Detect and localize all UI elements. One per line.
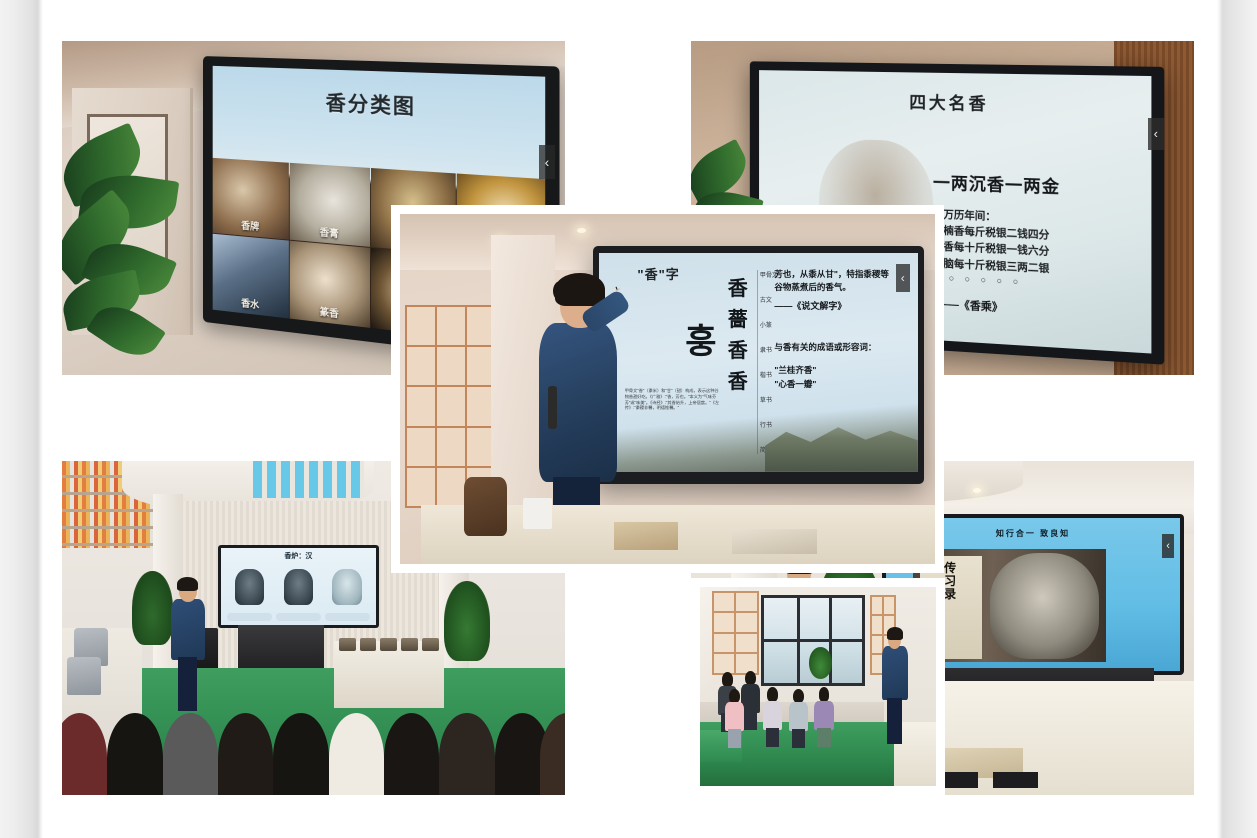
slide-title: 香炉：汉 [221, 551, 376, 561]
grid-cell-label: 香牌 [213, 215, 289, 236]
censer-images [227, 565, 370, 610]
script-label: 行书 [760, 420, 778, 429]
grid-cell: 香膏 [290, 163, 370, 247]
paper-cup [523, 498, 552, 530]
ceiling-downlight [577, 228, 586, 233]
audience-person [788, 689, 809, 745]
evolution-char: 香 [728, 272, 748, 301]
seated-audience [714, 659, 874, 735]
potted-plant [132, 571, 172, 644]
ceiling-downlight [973, 488, 981, 493]
presenter-torso [171, 599, 205, 660]
display-bezel: 香炉：汉 [218, 545, 379, 629]
audience-person [724, 689, 745, 745]
presenter-person [168, 581, 208, 708]
idiom-item: "兰桂齐香" [774, 363, 901, 377]
prev-arrow-icon[interactable]: ‹ [896, 264, 910, 292]
grid-cell-label: 香膏 [290, 222, 370, 244]
script-label: 小篆 [760, 320, 778, 329]
presenter-hair [177, 577, 198, 591]
presenter-hair-bun [553, 281, 568, 301]
presenter-torso [882, 646, 908, 699]
presenter-legs [887, 698, 902, 745]
book-title-char: 录 [944, 588, 956, 601]
incense-burner [464, 477, 507, 537]
display-screen: 香炉：汉 [221, 548, 376, 626]
potted-plant [444, 581, 489, 661]
prev-arrow-icon[interactable]: ‹ [539, 145, 555, 179]
definition-source: ——《说文解字》 [774, 300, 901, 314]
display-bezel: "香"字 훙 香 薔 香 香 甲骨文 古文 小篆 隶书 楷书 草书 [593, 246, 925, 484]
presenter-legs [178, 657, 197, 710]
wang-yangming-portrait [990, 553, 1099, 659]
page-viewport: 香分类图 香牌 香膏 锥香 倒流香 香水 篆香 盘香 线香 ‹ [0, 0, 1257, 838]
empty-chairs [67, 621, 132, 701]
oracle-bone-character: 훙 [685, 314, 716, 363]
evolution-char: 香 [728, 334, 748, 363]
slide-title: 四大名香 [760, 86, 1152, 119]
definition-line: 谷物蒸煮后的香气。 [774, 281, 901, 294]
presenter-person [879, 631, 910, 742]
presenter-hair [887, 627, 903, 639]
slide-body: 明万历年间： 齐楠香每斤税银二钱四分 沉香每十斤税银一钱六分 龙脑每十斤税银三两… [933, 207, 1049, 292]
evolution-char: 薔 [728, 303, 748, 332]
audience-person [762, 687, 783, 743]
incense-tool-box [732, 529, 818, 554]
presenter-person [518, 281, 636, 533]
idioms-title: 与香有关的成语或形容词： [774, 340, 901, 354]
grid-cell-label: 香水 [213, 291, 289, 314]
demo-objects [339, 638, 440, 651]
censer-captions [227, 613, 370, 622]
ink-block [993, 772, 1038, 789]
photo-center-overlay[interactable]: "香"字 훙 香 薔 香 香 甲骨文 古文 小篆 隶书 楷书 草书 [391, 205, 944, 573]
demo-table [334, 641, 445, 708]
character-evolution-column: 香 薔 香 香 [720, 272, 755, 394]
microphone [548, 386, 556, 429]
potted-plant [62, 128, 193, 362]
slide-source: ——《香乘》 [937, 295, 1003, 315]
audience-heads [62, 715, 565, 795]
slide-footnote: 甲骨文"香"（黍米）和"甘"（甜）构成，表示这种谷物香甜好吃。《广雅》:"香，芳… [625, 388, 721, 411]
slide-title: 香分类图 [213, 83, 546, 127]
slide-headline: 一两沉香一两金 [933, 169, 1060, 199]
script-label: 草书 [760, 395, 778, 404]
evolution-char: 香 [728, 365, 748, 394]
grid-cell-label: 篆香 [290, 300, 370, 324]
slide-idioms: 与香有关的成语或形容词： "兰桂齐香" "心香一瓣" [774, 340, 901, 391]
window-mullion [761, 639, 865, 642]
prev-arrow-icon[interactable]: ‹ [1162, 534, 1174, 558]
definition-line: 芳也，从黍从甘"，特指黍稷等 [774, 268, 901, 281]
photo-bottom-center-overlay[interactable] [691, 578, 945, 795]
page-edge-shadow-left [0, 0, 43, 838]
idiom-item: "心香一瓣" [774, 377, 901, 391]
display-screen: "香"字 훙 香 薔 香 香 甲骨文 古文 小篆 隶书 楷书 草书 [599, 253, 917, 472]
prev-arrow-icon[interactable]: ‹ [1148, 118, 1164, 150]
slide-title: "香"字 [637, 264, 679, 283]
page-edge-shadow-right [1217, 0, 1257, 838]
display-kiosks [253, 461, 364, 498]
wooden-tray [614, 522, 678, 550]
audience-person [814, 687, 835, 743]
grid-cell: 香牌 [213, 158, 289, 240]
mountain-backdrop-image [765, 415, 918, 472]
grid-cell: 香水 [213, 234, 289, 318]
grid-cell: 篆香 [290, 241, 370, 327]
slide-definition: 芳也，从黍从甘"，特指黍稷等 谷物蒸煮后的香气。 ——《说文解字》 [774, 268, 901, 314]
